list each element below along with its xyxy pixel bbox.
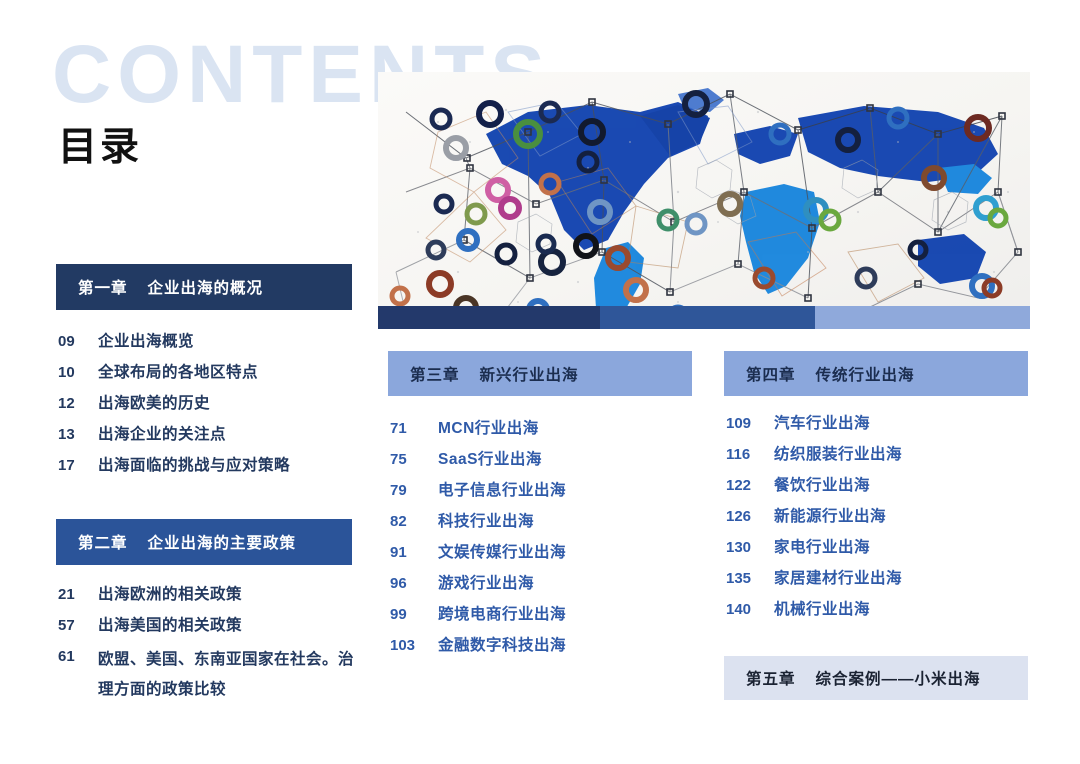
global-network-world-map-image [378,72,1030,329]
chapter-title-5: 综合案例——小米出海 [816,667,981,689]
page-number: 109 [726,412,774,436]
page-number: 82 [390,510,438,534]
page-number: 99 [390,603,438,627]
page-number: 103 [390,634,438,658]
list-item[interactable]: 09 企业出海概览 [58,330,358,354]
page-number: 10 [58,361,98,385]
list-item[interactable]: 61 欧盟、美国、东南亚国家在社会。治理方面的政策比较 [58,645,358,705]
list-item[interactable]: 71 MCN行业出海 [390,417,690,441]
page-number: 116 [726,443,774,467]
page-number: 61 [58,645,98,669]
chapter-number-3: 第三章 [410,363,460,385]
list-item[interactable]: 57 出海美国的相关政策 [58,614,358,638]
chapter-header-2[interactable]: 第二章 企业出海的主要政策 [56,519,352,565]
chapter-header-5[interactable]: 第五章 综合案例——小米出海 [724,656,1028,700]
entry-label: 电子信息行业出海 [438,479,678,503]
list-item[interactable]: 126 新能源行业出海 [726,505,1026,529]
chapter-number-1: 第一章 [78,276,128,298]
hero-bar-segment-2 [600,306,815,329]
entry-label: SaaS行业出海 [438,448,678,472]
page-number: 140 [726,598,774,622]
list-item[interactable]: 79 电子信息行业出海 [390,479,690,503]
list-item[interactable]: 140 机械行业出海 [726,598,1026,622]
toc-list-chapter-3: 71 MCN行业出海 75 SaaS行业出海 79 电子信息行业出海 82 科技… [390,417,690,665]
network-map-graphic [378,72,1030,329]
list-item[interactable]: 109 汽车行业出海 [726,412,1026,436]
chapter-number-5: 第五章 [746,667,796,689]
entry-label: 文娱传媒行业出海 [438,541,678,565]
page-number: 13 [58,423,98,447]
entry-label: 汽车行业出海 [774,412,1014,436]
list-item[interactable]: 99 跨境电商行业出海 [390,603,690,627]
list-item[interactable]: 17 出海面临的挑战与应对策略 [58,454,358,478]
list-item[interactable]: 10 全球布局的各地区特点 [58,361,358,385]
chapter-title-3: 新兴行业出海 [480,363,579,385]
page-number: 79 [390,479,438,503]
page-title: 目录 [58,128,142,167]
list-item[interactable]: 75 SaaS行业出海 [390,448,690,472]
entry-label: 出海美国的相关政策 [98,614,358,638]
page-number: 91 [390,541,438,565]
page-number: 122 [726,474,774,498]
list-item[interactable]: 122 餐饮行业出海 [726,474,1026,498]
list-item[interactable]: 82 科技行业出海 [390,510,690,534]
chapter-number-2: 第二章 [78,531,128,553]
entry-label: 金融数字科技出海 [438,634,678,658]
entry-label: 游戏行业出海 [438,572,678,596]
chapter-header-3[interactable]: 第三章 新兴行业出海 [388,351,692,396]
chapter-header-1[interactable]: 第一章 企业出海的概况 [56,264,352,310]
hero-color-bar [378,306,1030,329]
page-number: 09 [58,330,98,354]
entry-label: 科技行业出海 [438,510,678,534]
hero-bar-segment-3 [815,306,1030,329]
entry-label: 家电行业出海 [774,536,1014,560]
entry-label: 出海企业的关注点 [98,423,358,447]
entry-label: MCN行业出海 [438,417,678,441]
page-number: 17 [58,454,98,478]
page-number: 135 [726,567,774,591]
entry-label: 企业出海概览 [98,330,358,354]
toc-list-chapter-1: 09 企业出海概览 10 全球布局的各地区特点 12 出海欧美的历史 13 出海… [58,330,358,485]
entry-label: 出海欧洲的相关政策 [98,583,358,607]
list-item[interactable]: 116 纺织服装行业出海 [726,443,1026,467]
page-number: 130 [726,536,774,560]
chapter-title-4: 传统行业出海 [816,363,915,385]
page-number: 71 [390,417,438,441]
entry-label: 餐饮行业出海 [774,474,1014,498]
chapter-header-4[interactable]: 第四章 传统行业出海 [724,351,1028,396]
list-item[interactable]: 12 出海欧美的历史 [58,392,358,416]
toc-list-chapter-2: 21 出海欧洲的相关政策 57 出海美国的相关政策 61 欧盟、美国、东南亚国家… [58,583,358,712]
entry-label: 家居建材行业出海 [774,567,1014,591]
list-item[interactable]: 96 游戏行业出海 [390,572,690,596]
entry-label: 机械行业出海 [774,598,1014,622]
list-item[interactable]: 103 金融数字科技出海 [390,634,690,658]
chapter-title-2: 企业出海的主要政策 [148,531,297,553]
toc-list-chapter-4: 109 汽车行业出海 116 纺织服装行业出海 122 餐饮行业出海 126 新… [726,412,1026,629]
entry-label: 新能源行业出海 [774,505,1014,529]
list-item[interactable]: 21 出海欧洲的相关政策 [58,583,358,607]
page-number: 96 [390,572,438,596]
entry-label: 纺织服装行业出海 [774,443,1014,467]
list-item[interactable]: 130 家电行业出海 [726,536,1026,560]
entry-label: 全球布局的各地区特点 [98,361,358,385]
page-number: 21 [58,583,98,607]
entry-label: 出海欧美的历史 [98,392,358,416]
list-item[interactable]: 91 文娱传媒行业出海 [390,541,690,565]
list-item[interactable]: 13 出海企业的关注点 [58,423,358,447]
page-number: 75 [390,448,438,472]
hero-bar-segment-1 [378,306,600,329]
list-item[interactable]: 135 家居建材行业出海 [726,567,1026,591]
page-number: 57 [58,614,98,638]
chapter-title-1: 企业出海的概况 [148,276,264,298]
chapter-number-4: 第四章 [746,363,796,385]
entry-label: 欧盟、美国、东南亚国家在社会。治理方面的政策比较 [98,645,358,705]
entry-label: 跨境电商行业出海 [438,603,678,627]
entry-label: 出海面临的挑战与应对策略 [98,454,358,478]
page-number: 126 [726,505,774,529]
page-number: 12 [58,392,98,416]
